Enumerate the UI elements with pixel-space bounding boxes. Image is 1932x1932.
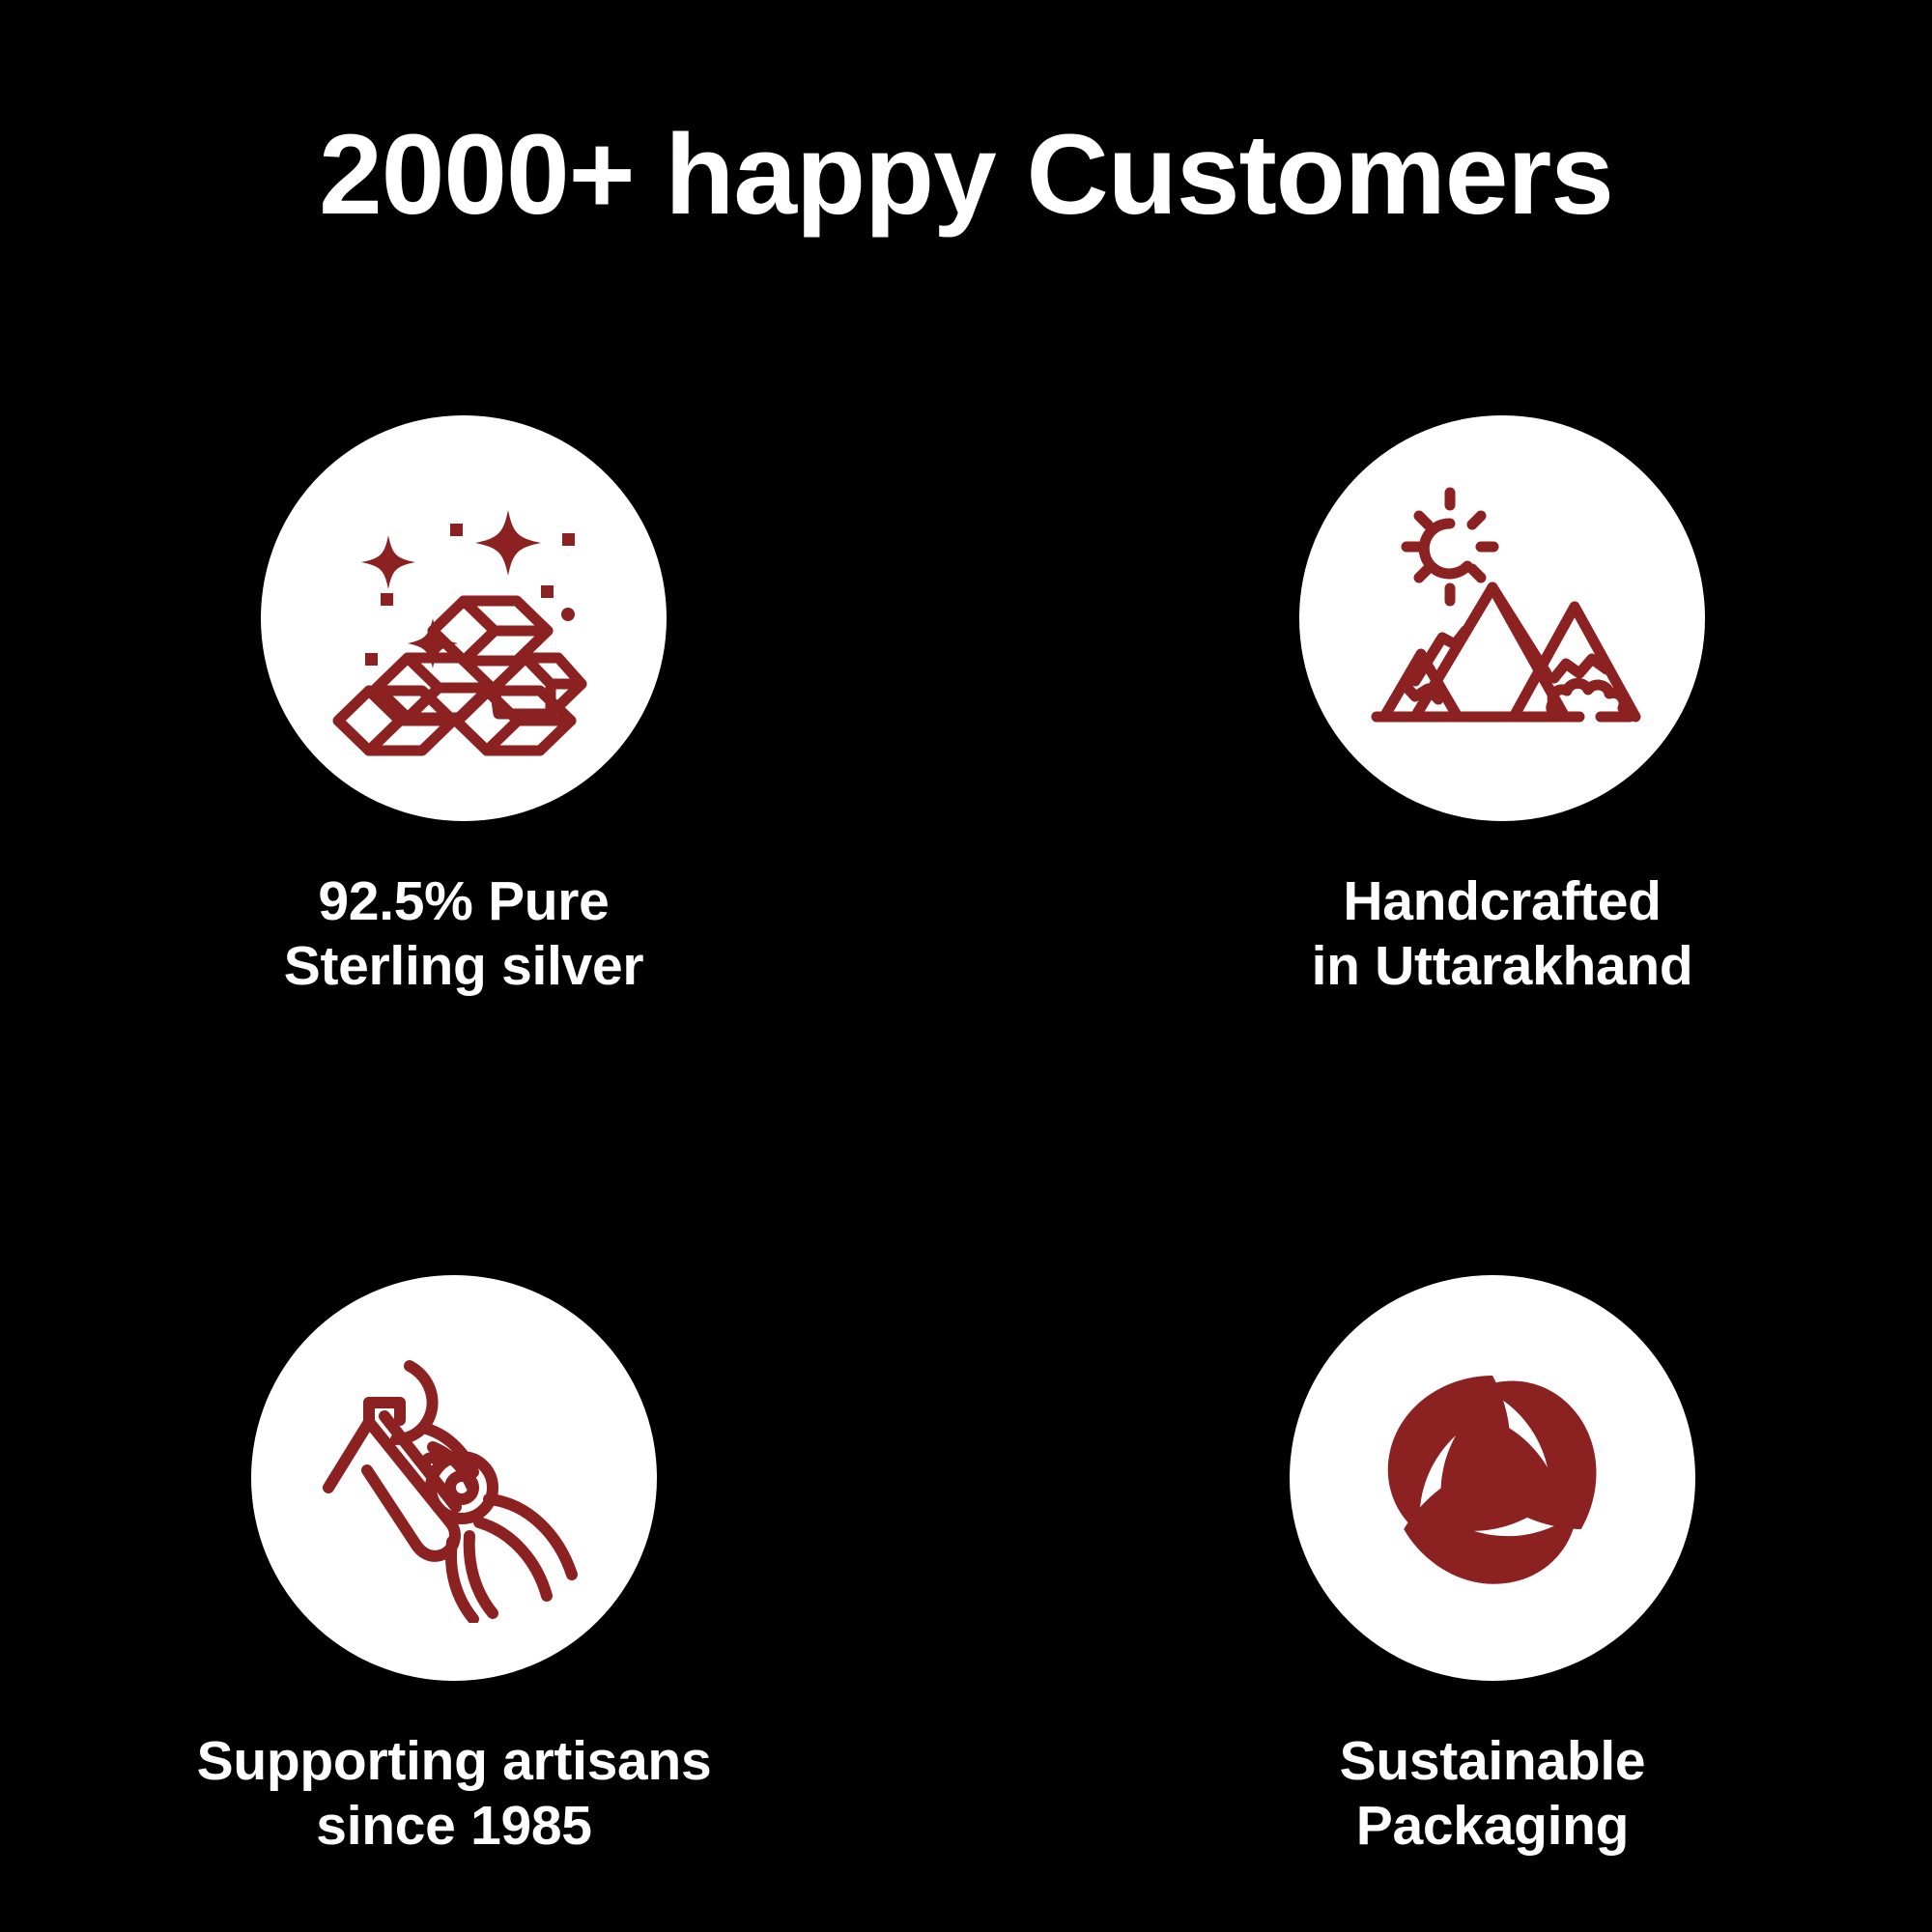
- silver-bars-sparkle-icon: [319, 473, 609, 763]
- feature-label-line2: since 1985: [197, 1794, 712, 1859]
- icon-badge: [251, 1275, 657, 1681]
- feature-grid: 92.5% Pure Sterling silver: [0, 415, 1932, 1884]
- feature-card-handcrafted: Handcrafted in Uttarakhand: [1019, 415, 1932, 1150]
- feature-label-line2: in Uttarakhand: [1312, 934, 1693, 999]
- feature-label-line1: Sustainable: [1340, 1730, 1646, 1792]
- jewelry-pliers-icon: [309, 1333, 599, 1623]
- icon-badge: [1290, 1275, 1695, 1681]
- feature-card-packaging: Sustainable Packaging: [1009, 1150, 1932, 1884]
- feature-label-line2: Sterling silver: [284, 934, 644, 999]
- feature-label: Sustainable Packaging: [1340, 1729, 1646, 1860]
- three-leaves-circle-icon: [1348, 1333, 1637, 1623]
- icon-badge: [1299, 415, 1705, 821]
- feature-label: Supporting artisans since 1985: [197, 1729, 712, 1860]
- feature-label-line1: Handcrafted: [1343, 870, 1661, 932]
- feature-label-line1: Supporting artisans: [197, 1730, 712, 1792]
- feature-card-artisans: Supporting artisans since 1985: [0, 1150, 937, 1884]
- mountains-sun-icon: [1357, 473, 1647, 763]
- promo-graphic: 2000+ happy Customers: [0, 0, 1932, 1932]
- page-title: 2000+ happy Customers: [0, 116, 1932, 236]
- icon-badge: [261, 415, 667, 821]
- feature-label-line2: Packaging: [1340, 1794, 1646, 1859]
- feature-label: 92.5% Pure Sterling silver: [284, 869, 644, 1000]
- feature-label: Handcrafted in Uttarakhand: [1312, 869, 1693, 1000]
- feature-card-sterling-silver: 92.5% Pure Sterling silver: [0, 415, 947, 1150]
- feature-label-line1: 92.5% Pure: [318, 870, 609, 932]
